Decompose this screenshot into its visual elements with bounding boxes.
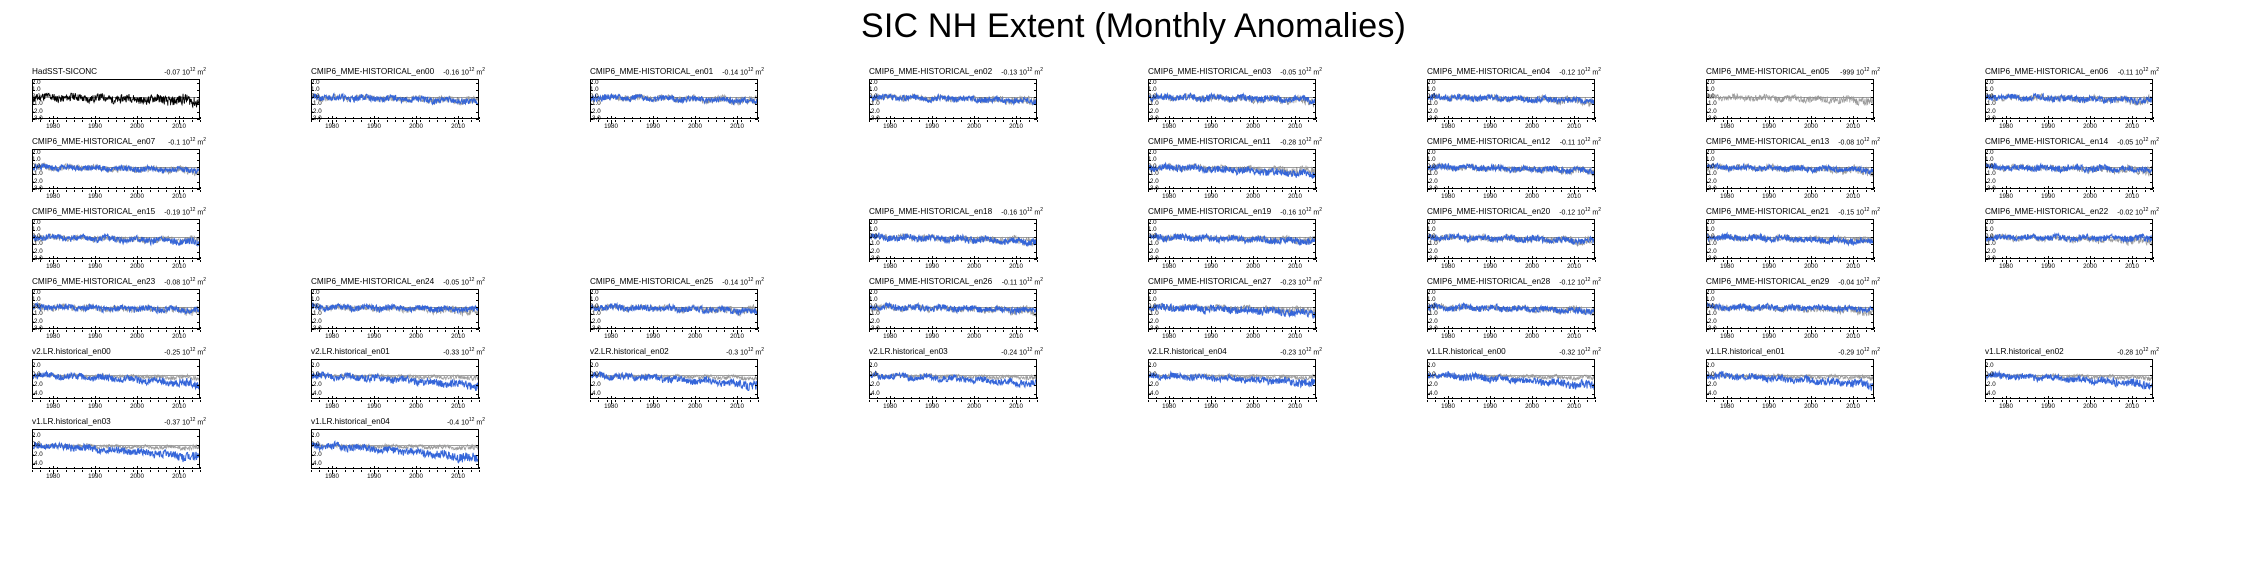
x-minor-tick xyxy=(2069,260,2070,262)
x-tick-label: 2010 xyxy=(1288,334,1302,340)
y-tick-mark xyxy=(869,252,872,253)
x-tick-mark-top xyxy=(137,256,138,260)
x-minor-tick xyxy=(1866,400,1867,402)
x-minor-tick xyxy=(1561,190,1562,192)
x-minor-tick-top xyxy=(1553,187,1554,189)
x-minor-tick xyxy=(57,400,58,402)
x-minor-tick xyxy=(1249,400,1250,402)
x-minor-tick-top xyxy=(158,327,159,329)
x-minor-tick-top xyxy=(1782,327,1783,329)
x-minor-tick xyxy=(133,190,134,192)
y-tick-mark xyxy=(1427,322,1430,323)
x-minor-tick-top xyxy=(741,327,742,329)
plot-area xyxy=(32,359,200,399)
panel-trend-annotation: -0.19 1012 m2 xyxy=(164,208,206,216)
x-minor-tick-top xyxy=(2136,187,2137,189)
y-tick-mark xyxy=(197,167,200,168)
x-minor-tick-top xyxy=(1587,187,1588,189)
x-minor-tick-top xyxy=(328,117,329,119)
x-minor-tick-top xyxy=(699,397,700,399)
y-tick-mark xyxy=(197,300,200,301)
x-minor-tick xyxy=(978,260,979,262)
x-minor-tick xyxy=(699,400,700,402)
x-minor-tick xyxy=(995,260,996,262)
x-minor-tick-top xyxy=(1773,327,1774,329)
x-minor-tick xyxy=(987,120,988,122)
y-tick-mark xyxy=(1706,322,1709,323)
x-minor-tick xyxy=(1840,330,1841,332)
y-tick-mark xyxy=(1427,97,1430,98)
x-minor-tick-top xyxy=(32,117,33,119)
x-minor-tick xyxy=(1148,330,1149,332)
x-minor-tick xyxy=(607,330,608,332)
x-minor-tick xyxy=(978,120,979,122)
x-tick-mark xyxy=(374,470,375,474)
x-tick-label: 2000 xyxy=(1246,334,1260,340)
x-minor-tick xyxy=(682,400,683,402)
x-minor-tick-top xyxy=(970,117,971,119)
x-tick-mark-top xyxy=(332,116,333,120)
y-tick-mark xyxy=(2150,90,2153,91)
x-minor-tick-top xyxy=(200,327,201,329)
x-minor-tick xyxy=(175,190,176,192)
x-minor-tick-top xyxy=(141,187,142,189)
x-minor-tick-top xyxy=(429,117,430,119)
y-tick-mark xyxy=(1427,252,1430,253)
x-minor-tick-top xyxy=(1224,397,1225,399)
x-minor-tick-top xyxy=(395,397,396,399)
x-minor-tick xyxy=(1274,330,1275,332)
x-tick-mark xyxy=(2132,260,2133,264)
y-tick-mark xyxy=(755,300,758,301)
x-minor-tick xyxy=(66,330,67,332)
x-tick-mark-top xyxy=(179,326,180,330)
x-minor-tick-top xyxy=(1545,397,1546,399)
x-minor-tick-top xyxy=(124,327,125,329)
x-minor-tick xyxy=(1840,400,1841,402)
x-axis: 1980199020002010 xyxy=(869,260,1037,270)
x-minor-tick-top xyxy=(682,117,683,119)
plot-area xyxy=(869,79,1037,119)
y-tick-mark xyxy=(1706,252,1709,253)
panel-trend-annotation: -0.14 1012 m2 xyxy=(722,68,764,76)
x-tick-mark-top xyxy=(932,326,933,330)
x-axis: 1980199020002010 xyxy=(32,190,200,200)
y-tick-mark xyxy=(32,153,35,154)
x-minor-tick-top xyxy=(1756,327,1757,329)
x-minor-tick-top xyxy=(1849,187,1850,189)
x-minor-tick xyxy=(1207,330,1208,332)
x-minor-tick xyxy=(378,120,379,122)
x-tick-label: 1980 xyxy=(1441,404,1455,410)
y-tick-mark xyxy=(1985,394,1988,395)
x-minor-tick xyxy=(2044,190,2045,192)
x-minor-tick-top xyxy=(1993,187,1994,189)
x-minor-tick-top xyxy=(1849,257,1850,259)
x-minor-tick-top xyxy=(1798,187,1799,189)
x-minor-tick-top xyxy=(1570,187,1571,189)
y-tick-mark xyxy=(2150,182,2153,183)
y-tick-mark xyxy=(1148,307,1151,308)
x-minor-tick xyxy=(99,260,100,262)
y-tick-mark xyxy=(32,90,35,91)
plot-area xyxy=(311,429,479,469)
x-minor-tick xyxy=(1578,190,1579,192)
x-minor-tick-top xyxy=(1182,187,1183,189)
y-tick-mark xyxy=(1427,167,1430,168)
x-minor-tick xyxy=(166,190,167,192)
x-minor-tick-top xyxy=(40,257,41,259)
x-axis: 1980199020002010 xyxy=(1427,190,1595,200)
panel-CMIP6_MME-HISTORICAL_en03: CMIP6_MME-HISTORICAL_en03-0.05 1012 m22.… xyxy=(1130,68,1326,134)
plot-area xyxy=(1706,149,1874,189)
x-tick-mark-top xyxy=(1769,396,1770,400)
x-tick-label: 2000 xyxy=(688,124,702,130)
y-tick-mark xyxy=(1871,375,1874,376)
x-tick-mark-top xyxy=(53,466,54,470)
x-minor-tick xyxy=(2061,400,2062,402)
x-minor-tick-top xyxy=(1156,117,1157,119)
y-tick-mark xyxy=(197,104,200,105)
x-minor-tick xyxy=(2077,400,2078,402)
x-minor-tick-top xyxy=(1477,257,1478,259)
x-minor-tick-top xyxy=(1461,257,1462,259)
x-tick-label: 2010 xyxy=(1288,124,1302,130)
x-minor-tick-top xyxy=(877,117,878,119)
x-minor-tick xyxy=(869,120,870,122)
x-minor-tick xyxy=(970,260,971,262)
x-tick-mark-top xyxy=(1169,396,1170,400)
panel-title: CMIP6_MME-HISTORICAL_en23 xyxy=(32,278,155,286)
x-minor-tick-top xyxy=(1257,257,1258,259)
y-tick-mark xyxy=(1313,97,1316,98)
x-minor-tick xyxy=(632,330,633,332)
x-tick-mark xyxy=(374,120,375,124)
y-tick-mark xyxy=(311,300,314,301)
x-minor-tick-top xyxy=(1528,397,1529,399)
x-minor-tick xyxy=(1494,400,1495,402)
x-minor-tick xyxy=(758,120,759,122)
y-tick-mark xyxy=(1148,83,1151,84)
x-minor-tick xyxy=(1714,260,1715,262)
x-minor-tick xyxy=(2077,190,2078,192)
y-tick-mark xyxy=(1427,375,1430,376)
x-minor-tick-top xyxy=(1731,187,1732,189)
x-minor-tick-top xyxy=(1486,187,1487,189)
y-tick-mark xyxy=(1592,300,1595,301)
x-tick-mark-top xyxy=(1811,116,1812,120)
x-minor-tick xyxy=(1815,400,1816,402)
y-tick-mark xyxy=(869,237,872,238)
x-minor-tick xyxy=(1165,260,1166,262)
x-minor-tick xyxy=(1587,260,1588,262)
x-minor-tick xyxy=(116,190,117,192)
x-minor-tick xyxy=(590,120,591,122)
x-minor-tick xyxy=(1444,400,1445,402)
x-tick-mark-top xyxy=(1574,326,1575,330)
x-minor-tick-top xyxy=(1165,397,1166,399)
x-minor-tick xyxy=(928,330,929,332)
x-minor-tick-top xyxy=(1461,187,1462,189)
x-tick-mark xyxy=(1490,260,1491,264)
x-minor-tick xyxy=(1545,120,1546,122)
y-tick-mark xyxy=(1427,293,1430,294)
x-minor-tick xyxy=(2094,190,2095,192)
x-minor-tick-top xyxy=(200,467,201,469)
x-minor-tick-top xyxy=(1190,187,1191,189)
x-tick-mark xyxy=(1811,260,1812,264)
x-minor-tick xyxy=(1798,260,1799,262)
x-minor-tick xyxy=(1765,260,1766,262)
x-minor-tick xyxy=(1232,330,1233,332)
y-tick-mark xyxy=(1592,307,1595,308)
x-minor-tick-top xyxy=(1714,117,1715,119)
x-minor-tick-top xyxy=(200,187,201,189)
x-minor-tick xyxy=(1782,260,1783,262)
x-minor-tick xyxy=(1190,260,1191,262)
x-minor-tick-top xyxy=(82,257,83,259)
x-minor-tick-top xyxy=(1477,327,1478,329)
x-minor-tick-top xyxy=(99,257,100,259)
x-tick-label: 1990 xyxy=(1483,334,1497,340)
y-tick-mark xyxy=(1148,394,1151,395)
y-tick-mark xyxy=(755,385,758,386)
panel-title: CMIP6_MME-HISTORICAL_en28 xyxy=(1427,278,1550,286)
x-minor-tick xyxy=(1561,120,1562,122)
x-minor-tick xyxy=(2136,260,2137,262)
x-minor-tick xyxy=(894,260,895,262)
x-minor-tick xyxy=(2128,260,2129,262)
x-minor-tick xyxy=(40,400,41,402)
x-minor-tick-top xyxy=(1553,397,1554,399)
model-series xyxy=(1986,234,2152,243)
x-tick-label: 2010 xyxy=(2125,124,2139,130)
x-minor-tick xyxy=(91,330,92,332)
x-tick-label: 1980 xyxy=(1720,194,1734,200)
y-tick-mark xyxy=(476,300,479,301)
y-tick-mark xyxy=(197,436,200,437)
x-minor-tick-top xyxy=(1815,327,1816,329)
x-tick-mark-top xyxy=(416,466,417,470)
x-tick-mark xyxy=(1853,190,1854,194)
x-minor-tick xyxy=(200,120,201,122)
x-minor-tick-top xyxy=(2111,257,2112,259)
x-minor-tick-top xyxy=(1866,187,1867,189)
x-minor-tick-top xyxy=(32,327,33,329)
x-minor-tick-top xyxy=(353,397,354,399)
x-tick-mark-top xyxy=(1490,186,1491,190)
y-tick-mark xyxy=(869,90,872,91)
x-minor-tick xyxy=(353,470,354,472)
y-tick-mark xyxy=(1592,182,1595,183)
x-tick-label: 1980 xyxy=(1999,194,2013,200)
x-minor-tick xyxy=(99,330,100,332)
x-minor-tick xyxy=(741,120,742,122)
x-minor-tick-top xyxy=(961,117,962,119)
x-minor-tick-top xyxy=(1790,327,1791,329)
y-tick-mark xyxy=(1592,394,1595,395)
x-minor-tick xyxy=(1519,400,1520,402)
x-minor-tick-top xyxy=(378,467,379,469)
x-minor-tick xyxy=(2119,120,2120,122)
x-tick-mark xyxy=(1532,120,1533,124)
x-minor-tick-top xyxy=(1215,397,1216,399)
x-minor-tick-top xyxy=(1316,187,1317,189)
x-minor-tick-top xyxy=(2136,397,2137,399)
panel-title: v2.LR.historical_en01 xyxy=(311,348,390,356)
x-minor-tick-top xyxy=(1452,187,1453,189)
panel-title: v2.LR.historical_en02 xyxy=(590,348,669,356)
x-minor-tick xyxy=(1207,190,1208,192)
x-minor-tick-top xyxy=(1866,397,1867,399)
x-tick-mark-top xyxy=(1253,396,1254,400)
x-tick-mark xyxy=(332,120,333,124)
x-minor-tick xyxy=(1528,260,1529,262)
x-minor-tick xyxy=(387,120,388,122)
panel-v2.LR.historical_en03: v2.LR.historical_en03-0.24 1012 m22.00.0… xyxy=(851,348,1047,414)
x-tick-label: 2000 xyxy=(967,124,981,130)
x-minor-tick xyxy=(49,330,50,332)
panel-CMIP6_MME-HISTORICAL_en18: CMIP6_MME-HISTORICAL_en18-0.16 1012 m22.… xyxy=(851,208,1047,274)
x-minor-tick-top xyxy=(166,397,167,399)
y-tick-mark xyxy=(476,366,479,367)
y-tick-mark xyxy=(1592,90,1595,91)
x-minor-tick xyxy=(1807,260,1808,262)
x-minor-tick xyxy=(1528,330,1529,332)
x-minor-tick xyxy=(1207,400,1208,402)
x-minor-tick xyxy=(1553,120,1554,122)
x-tick-mark xyxy=(1727,260,1728,264)
x-axis: 1980199020002010 xyxy=(1427,260,1595,270)
x-minor-tick xyxy=(741,330,742,332)
x-minor-tick xyxy=(945,330,946,332)
y-tick-mark xyxy=(1034,97,1037,98)
x-tick-mark-top xyxy=(932,256,933,260)
x-minor-tick xyxy=(1003,400,1004,402)
x-minor-tick-top xyxy=(2086,257,2087,259)
x-minor-tick xyxy=(607,400,608,402)
x-minor-tick-top xyxy=(1215,257,1216,259)
x-tick-mark xyxy=(974,260,975,264)
x-tick-mark xyxy=(137,470,138,474)
y-tick-mark xyxy=(1592,160,1595,161)
x-minor-tick xyxy=(2019,190,2020,192)
x-minor-tick-top xyxy=(2069,187,2070,189)
x-minor-tick-top xyxy=(108,327,109,329)
x-minor-tick-top xyxy=(2119,397,2120,399)
x-minor-tick-top xyxy=(74,117,75,119)
x-minor-tick-top xyxy=(74,187,75,189)
x-minor-tick xyxy=(2002,260,2003,262)
x-minor-tick-top xyxy=(2019,117,2020,119)
y-tick-mark xyxy=(311,90,314,91)
x-minor-tick-top xyxy=(758,117,759,119)
y-tick-mark xyxy=(1871,244,1874,245)
x-minor-tick-top xyxy=(1257,187,1258,189)
y-tick-mark xyxy=(32,237,35,238)
x-minor-tick xyxy=(1731,400,1732,402)
x-tick-label: 2010 xyxy=(1009,334,1023,340)
x-minor-tick xyxy=(657,120,658,122)
x-minor-tick-top xyxy=(1595,117,1596,119)
y-tick-mark xyxy=(311,445,314,446)
x-minor-tick xyxy=(361,120,362,122)
x-minor-tick-top xyxy=(869,327,870,329)
y-tick-mark xyxy=(32,385,35,386)
x-tick-label: 2000 xyxy=(130,194,144,200)
x-minor-tick-top xyxy=(1849,397,1850,399)
x-minor-tick xyxy=(479,400,480,402)
x-minor-tick xyxy=(911,260,912,262)
x-minor-tick xyxy=(99,400,100,402)
plot-area xyxy=(32,429,200,469)
x-minor-tick xyxy=(1832,400,1833,402)
x-axis: 1980199020002010 xyxy=(32,120,200,130)
x-minor-tick-top xyxy=(1274,257,1275,259)
x-minor-tick xyxy=(666,120,667,122)
x-minor-tick xyxy=(2044,260,2045,262)
x-minor-tick xyxy=(1578,330,1579,332)
x-minor-tick-top xyxy=(911,117,912,119)
panel-trend-annotation: -999 1012 m2 xyxy=(1840,68,1880,76)
x-minor-tick xyxy=(57,330,58,332)
y-tick-mark xyxy=(476,307,479,308)
x-minor-tick-top xyxy=(970,397,971,399)
x-minor-tick-top xyxy=(370,397,371,399)
x-minor-tick xyxy=(2035,190,2036,192)
x-tick-mark xyxy=(137,400,138,404)
x-minor-tick-top xyxy=(1486,117,1487,119)
x-tick-label: 1980 xyxy=(46,194,60,200)
x-minor-tick-top xyxy=(877,397,878,399)
y-tick-mark xyxy=(755,83,758,84)
x-minor-tick xyxy=(1756,120,1757,122)
x-tick-mark xyxy=(1574,330,1575,334)
x-tick-mark xyxy=(974,330,975,334)
x-minor-tick-top xyxy=(2044,117,2045,119)
x-minor-tick-top xyxy=(2002,117,2003,119)
x-tick-mark-top xyxy=(416,326,417,330)
x-tick-mark xyxy=(137,330,138,334)
panel-title: v1.LR.historical_en03 xyxy=(32,418,111,426)
y-tick-mark xyxy=(1427,244,1430,245)
x-tick-mark xyxy=(1574,120,1575,124)
x-minor-tick xyxy=(1215,330,1216,332)
x-tick-mark-top xyxy=(1727,116,1728,120)
x-minor-tick-top xyxy=(1748,397,1749,399)
x-minor-tick-top xyxy=(1452,117,1453,119)
x-tick-mark xyxy=(2006,120,2007,124)
y-tick-mark xyxy=(1706,394,1709,395)
x-minor-tick-top xyxy=(953,257,954,259)
x-minor-tick xyxy=(1748,120,1749,122)
x-minor-tick xyxy=(2002,120,2003,122)
x-minor-tick xyxy=(1291,120,1292,122)
x-minor-tick xyxy=(2069,190,2070,192)
x-minor-tick xyxy=(886,400,887,402)
x-minor-tick-top xyxy=(437,397,438,399)
x-tick-label: 2010 xyxy=(1288,404,1302,410)
x-minor-tick-top xyxy=(615,327,616,329)
x-minor-tick-top xyxy=(911,327,912,329)
x-minor-tick xyxy=(1824,400,1825,402)
x-tick-label: 2000 xyxy=(1246,404,1260,410)
y-tick-mark xyxy=(1427,174,1430,175)
x-tick-label: 2000 xyxy=(130,334,144,340)
panel-grid: HadSST-SICONC-0.07 1012 m22.01.00.0-1.0-… xyxy=(0,58,2267,578)
x-minor-tick-top xyxy=(1714,257,1715,259)
x-minor-tick-top xyxy=(1748,327,1749,329)
